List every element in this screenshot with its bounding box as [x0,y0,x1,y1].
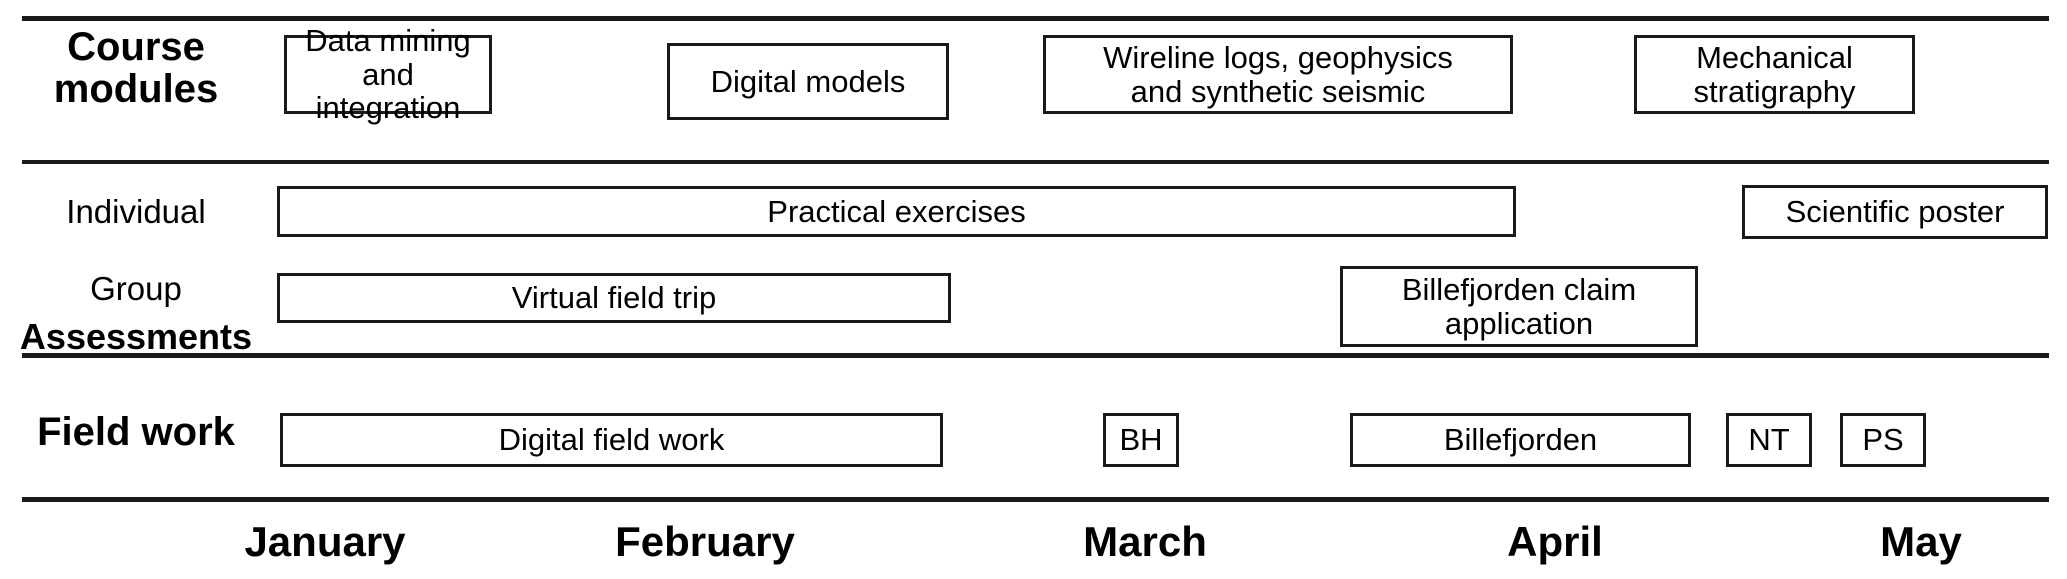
row-label-course-modules: Course modules [0,26,272,111]
month-label-may: May [1776,518,2066,566]
row-label-group: Group [0,272,272,307]
row-label-individual: Individual [0,195,272,230]
fieldwork-box-billefjorden-label: Billefjorden [1438,423,1603,456]
row-label-assessments: Assessments [0,318,272,356]
row-label-group-text: Group [0,272,272,307]
module-box-mechanical-stratigraphy-line2: stratigraphy [1688,75,1862,108]
fieldwork-box-ps[interactable]: PS [1840,413,1926,467]
month-label-march: March [1000,518,1290,566]
row-label-course-modules-line2: modules [0,68,272,110]
module-box-wireline-logs-line1: Wireline logs, geophysics [1097,41,1459,74]
module-box-mechanical-stratigraphy-line1: Mechanical [1688,41,1862,74]
fieldwork-box-billefjorden[interactable]: Billefjorden [1350,413,1691,467]
separator-line-fieldwork-months [22,497,2049,502]
module-box-digital-models[interactable]: Digital models [667,43,949,120]
module-box-wireline-logs[interactable]: Wireline logs, geophysics and synthetic … [1043,35,1513,114]
assessment-box-billefjorden-claim-line1: Billefjorden claim [1396,273,1642,306]
course-timeline-diagram: Course modules Data mining and integrati… [0,0,2067,579]
module-box-digital-models-line1: Digital models [705,65,912,98]
separator-line-assessments-fieldwork [22,353,2049,358]
assessment-box-virtual-field-trip[interactable]: Virtual field trip [277,273,951,323]
row-label-course-modules-line1: Course [0,26,272,68]
module-box-wireline-logs-line2: and synthetic seismic [1097,75,1459,108]
module-box-mechanical-stratigraphy[interactable]: Mechanical stratigraphy [1634,35,1915,114]
row-label-field-work: Field work [0,411,272,453]
module-box-data-mining[interactable]: Data mining and integration [284,35,492,114]
row-label-field-work-text: Field work [0,411,272,453]
fieldwork-box-bh-label: BH [1113,423,1168,456]
assessment-box-scientific-poster[interactable]: Scientific poster [1742,185,2048,239]
assessment-box-virtual-field-trip-label: Virtual field trip [506,281,722,314]
fieldwork-box-digital-field-work[interactable]: Digital field work [280,413,943,467]
fieldwork-box-ps-label: PS [1856,423,1909,456]
assessment-box-billefjorden-claim-application[interactable]: Billefjorden claim application [1340,266,1698,347]
fieldwork-box-bh[interactable]: BH [1103,413,1179,467]
module-box-data-mining-line1: Data mining [293,24,483,57]
row-label-individual-text: Individual [0,195,272,230]
month-label-april: April [1410,518,1700,566]
month-label-february: February [560,518,850,566]
assessment-box-scientific-poster-label: Scientific poster [1780,195,2011,228]
row-label-assessments-text: Assessments [0,318,272,356]
separator-line-top [22,16,2049,21]
separator-line-modules-assessments [22,160,2049,164]
module-box-data-mining-line2: and integration [293,58,483,125]
assessment-box-practical-exercises-label: Practical exercises [761,195,1031,228]
assessment-box-practical-exercises[interactable]: Practical exercises [277,186,1516,237]
assessment-box-billefjorden-claim-line2: application [1396,307,1642,340]
fieldwork-box-digital-field-work-label: Digital field work [493,423,731,456]
fieldwork-box-nt[interactable]: NT [1726,413,1812,467]
month-label-january: January [180,518,470,566]
fieldwork-box-nt-label: NT [1742,423,1795,456]
